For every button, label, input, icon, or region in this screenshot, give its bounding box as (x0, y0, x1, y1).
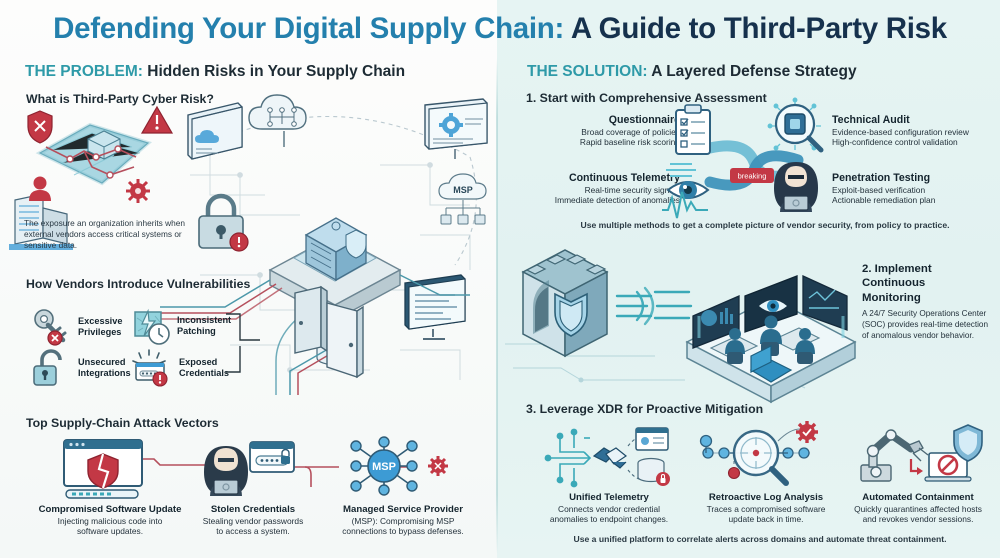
robot-arm-quarantine-icon (855, 425, 985, 487)
attack-vector-title: Stolen Credentials (180, 504, 326, 516)
method-line2: Actionable remediation plan (832, 195, 1000, 206)
method-line1: Evidence-based configuration review (832, 127, 1000, 138)
broken-shield-browser-icon (60, 438, 152, 500)
vuln-label-line2: Integrations (78, 368, 131, 378)
insider-person-icon (29, 177, 51, 202)
title-part-primary: Defending Your Digital Supply Chain: (53, 12, 564, 45)
attack-vector-title: Managed Service Provider (318, 504, 488, 516)
assessment-linked-chain-illustration: breaking (674, 106, 834, 218)
page-title: Defending Your Digital Supply Chain: A G… (0, 12, 1000, 46)
vulnerability-item-exposed-credentials: ExposedCredentials (131, 348, 229, 388)
handshake-telemetry-icon (540, 428, 670, 490)
attack-vector-desc-line1: Injecting malicious code into (28, 516, 192, 527)
xdr-line2: and revokes vendor sessions. (836, 514, 1000, 525)
xdr-title: Retroactive Log Analysis (680, 492, 852, 504)
msp-node-label: MSP (372, 461, 396, 473)
attack-vector-desc-line2: to access a system. (180, 526, 326, 537)
method-line1: Exploit-based verification (832, 185, 1000, 196)
cracked-shield-clock-icon (131, 306, 171, 346)
malware-virus-icon (126, 179, 150, 203)
left-block2-heading: How Vendors Introduce Vulnerabilities (26, 277, 250, 291)
attack-vector-desc-line2: software updates. (28, 526, 192, 537)
breaking-badge-label: breaking (738, 172, 767, 181)
open-doors-illustration (275, 285, 385, 385)
left-block1-caption: The exposure an organization inherits wh… (24, 218, 199, 251)
method-title: Questionnaire (520, 114, 680, 127)
msp-hub-icon: MSP (340, 436, 450, 498)
xdr-title: Unified Telemetry (524, 492, 694, 504)
step3-heading: 3. Leverage XDR for Proactive Mitigation (526, 402, 763, 416)
vuln-label-line1: Inconsistent (177, 315, 231, 325)
method-line1: Broad coverage of policies (520, 127, 680, 138)
warning-triangle-icon (142, 107, 172, 133)
xdr-line1: Quickly quarantines affected hosts (836, 504, 1000, 515)
method-line2: Rapid baseline risk scoring (520, 137, 680, 148)
xdr-title: Automated Containment (836, 492, 1000, 504)
method-line1: Real-time security signals (508, 185, 680, 196)
step2-heading-line1: 2. Implement (862, 262, 994, 276)
method-penetration-testing: Penetration Testing Exploit-based verifi… (832, 172, 1000, 206)
attack-vector-title: Compromised Software Update (28, 504, 192, 516)
attack-vector-msp: Managed Service Provider (MSP): Compromi… (318, 504, 488, 537)
method-line2: High-confidence control validation (832, 137, 1000, 148)
method-technical-audit: Technical Audit Evidence-based configura… (832, 114, 1000, 148)
breaking-badge: breaking (730, 168, 774, 183)
open-padlock-icon (30, 348, 72, 388)
method-title: Continuous Telemetry (508, 172, 680, 185)
left-section-header: THE PROBLEM: Hidden Risks in Your Supply… (25, 63, 405, 81)
vulnerability-item-excessive-privileges: ExcessivePrivileges (30, 308, 122, 346)
step2-heading-line3: Monitoring (862, 291, 994, 305)
step1-heading: 1. Start with Comprehensive Assessment (526, 91, 767, 105)
method-line2: Immediate detection of anomalies (508, 195, 680, 206)
vuln-label-line2: Patching (177, 326, 216, 336)
xdr-line1: Traces a compromised software (680, 504, 852, 515)
key-icon (30, 308, 72, 346)
left-block3-heading: Top Supply-Chain Attack Vectors (26, 416, 219, 430)
vulnerability-item-inconsistent-patching: InconsistentPatching (131, 306, 231, 346)
exposed-password-card-icon (131, 348, 173, 388)
method-title: Penetration Testing (832, 172, 1000, 185)
vuln-label-line2: Credentials (179, 368, 229, 378)
step2-heading-line2: Continuous (862, 276, 994, 290)
method-title: Technical Audit (832, 114, 1000, 127)
xdr-item-unified-telemetry: Unified Telemetry Connects vendor creden… (524, 492, 694, 525)
xdr-line1: Connects vendor credential (524, 504, 694, 515)
attack-vector-stolen-credentials: Stolen Credentials Stealing vendor passw… (180, 504, 326, 537)
left-header-accent: THE PROBLEM: (25, 63, 143, 80)
attack-vector-compromised-update: Compromised Software Update Injecting ma… (28, 504, 192, 537)
magnifier-timeline-icon (700, 425, 830, 489)
right-section-header: THE SOLUTION: A Layered Defense Strategy (527, 63, 857, 81)
attack-vector-desc-line1: (MSP): Compromising MSP (318, 516, 488, 527)
vuln-label-line2: Privileges (78, 327, 121, 337)
vuln-label-line1: Excessive (78, 316, 122, 326)
method-questionnaire: Questionnaire Broad coverage of policies… (520, 114, 680, 148)
shield-breach-icon (28, 111, 52, 143)
right-header-rest: A Layered Defense Strategy (648, 63, 857, 80)
brace-connector (224, 312, 280, 374)
attack-vector-desc-line1: Stealing vendor passwords (180, 516, 326, 527)
attack-vector-desc-line2: connections to bypass defenses. (318, 526, 488, 537)
xdr-line2: anomalies to endpoint changes. (524, 514, 694, 525)
padlock-breach-icon (192, 192, 250, 254)
soc-fortress-illustration (505, 248, 865, 393)
step1-footnote: Use multiple methods to get a complete p… (540, 220, 990, 231)
vuln-label-line1: Exposed (179, 357, 217, 367)
step3-footnote: Use a unified platform to correlate aler… (530, 534, 990, 545)
xdr-line2: update back in time. (680, 514, 852, 525)
xdr-item-automated-containment: Automated Containment Quickly quarantine… (836, 492, 1000, 525)
vulnerability-item-unsecured-integrations: UnsecuredIntegrations (30, 348, 131, 388)
clipboard-checklist-icon (676, 105, 710, 154)
msp-cloud-label: MSP (453, 185, 473, 195)
title-part-secondary: A Guide to Third-Party Risk (564, 12, 947, 45)
step2-body: A 24/7 Security Operations Center (SOC) … (862, 309, 994, 342)
method-continuous-telemetry: Continuous Telemetry Real-time security … (508, 172, 680, 206)
chip-magnifier-icon (768, 98, 821, 150)
vuln-label-line1: Unsecured (78, 357, 126, 367)
right-header-accent: THE SOLUTION: (527, 63, 648, 80)
left-header-rest: Hidden Risks in Your Supply Chain (143, 63, 405, 80)
xdr-item-retroactive-log-analysis: Retroactive Log Analysis Traces a compro… (680, 492, 852, 525)
risk-map-illustration (22, 105, 182, 210)
pentester-hacker-icon (774, 162, 818, 212)
step2-block: 2. Implement Continuous Monitoring A 24/… (862, 262, 994, 341)
hacker-hoodie-icon (196, 434, 296, 500)
infographic-poster: Defending Your Digital Supply Chain: A G… (0, 0, 1000, 558)
